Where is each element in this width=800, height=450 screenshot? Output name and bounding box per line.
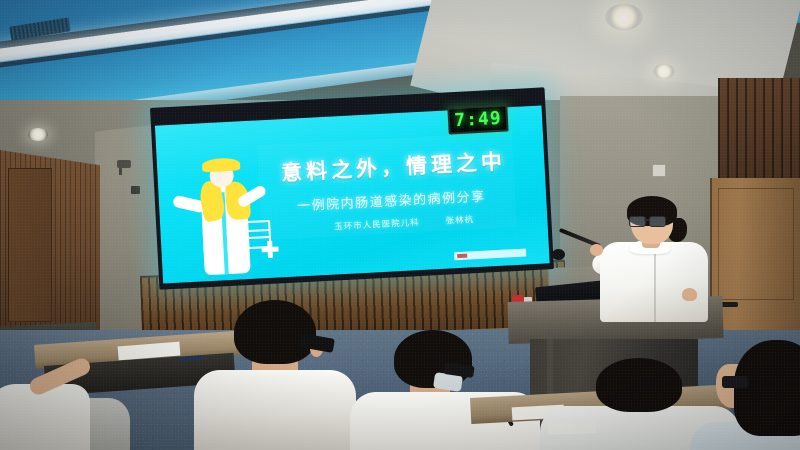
audience-body [194,370,356,450]
medical-cross-icon [261,241,279,259]
audience-glasses-icon [722,376,748,388]
audience-member-center-mask [370,330,530,450]
audience-head [596,358,682,412]
recessed-downlight-icon [653,64,675,79]
right-wall-slat-panel [718,78,800,188]
microphone-icon [552,249,565,260]
presenter-hand-right [682,288,697,301]
presenter-glasses-icon [629,216,669,225]
audience-member-left-glasses [200,300,350,450]
presenter-white-coat [600,242,708,322]
slide-presenter-name: 张林杭 [445,213,474,226]
wall-switch-plate-icon[interactable] [652,164,666,177]
audience-member-far-right [700,340,800,450]
audience-head [234,300,316,364]
nurse-hat [202,157,241,172]
wall-speaker-icon [117,160,131,168]
clipboard-line [249,229,269,232]
wall-mounted-box [131,186,140,194]
paper-sheet [548,421,596,435]
side-door-left[interactable] [8,168,52,322]
countdown-timer-value: 7:49 [454,108,502,131]
audience-body [0,384,90,450]
lecture-hall-photo: 意料之外，情理之中 一例院内肠道感染的病例分享 玉环市人民医院儿科 张林杭 7:… [0,0,800,450]
audience-head [734,340,800,436]
glasses-bridge [644,219,649,221]
presenter [596,196,712,321]
audience-member-far-left [0,362,106,450]
recessed-downlight-icon [605,4,643,30]
recessed-downlight-icon [28,128,48,141]
clipboard-line [249,236,269,239]
countdown-timer: 7:49 [447,104,508,134]
presenter-hand-left [590,244,603,256]
slide-watermark [454,249,526,261]
